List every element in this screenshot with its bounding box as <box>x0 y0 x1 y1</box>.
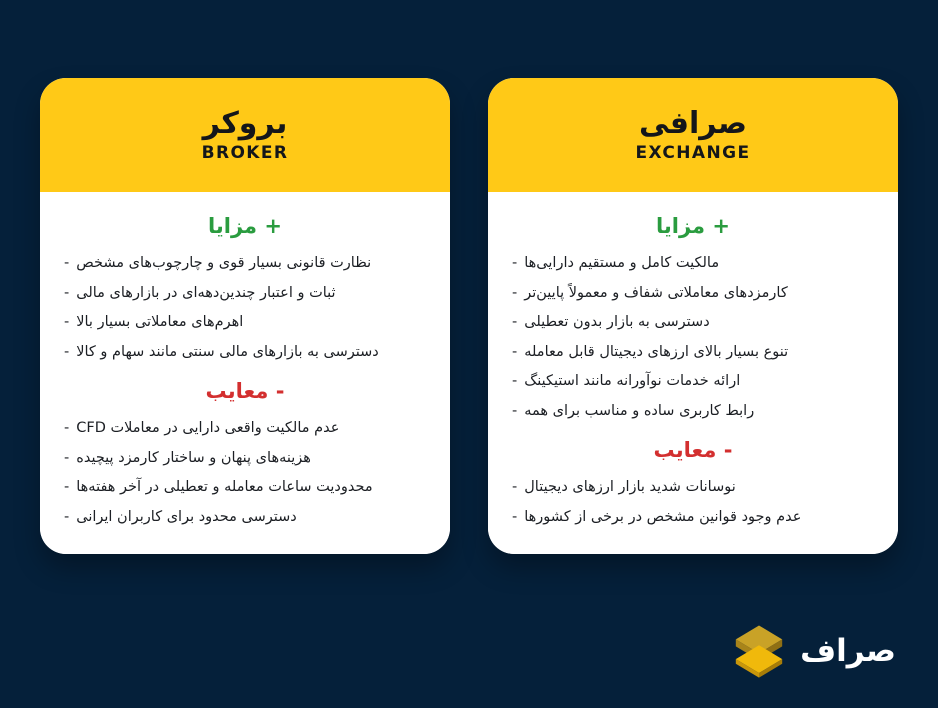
list-item: تنوع بسیار بالای ارزهای دیجیتال قابل معا… <box>512 341 874 363</box>
brand-name: صراف <box>800 636 896 667</box>
dash-bullet-icon: - <box>512 476 517 498</box>
list-item: نظارت قانونی بسیار قوی و چارچوب‌های مشخص… <box>64 252 426 274</box>
dash-bullet-icon: - <box>512 341 517 363</box>
list-item: عدم مالکیت واقعی دارایی در معاملات CFD - <box>64 417 426 439</box>
list-item-text: اهرم‌های معاملاتی بسیار بالا <box>76 311 243 333</box>
infographic-canvas: صرافی EXCHANGE + مزایا مالکیت کامل و مست… <box>0 0 938 708</box>
list-item-text: عدم وجود قوانین مشخص در برخی از کشورها <box>524 506 801 528</box>
list-item-text: دسترسی به بازارهای مالی سنتی مانند سهام … <box>76 341 379 363</box>
exchange-pros-section: + مزایا مالکیت کامل و مستقیم دارایی‌ها -… <box>512 214 874 422</box>
list-item: ثبات و اعتبار چندین‌دهه‌ای در بازارهای م… <box>64 282 426 304</box>
dash-bullet-icon: - <box>64 311 69 333</box>
dash-bullet-icon: - <box>64 282 69 304</box>
broker-cons-heading: - معایب <box>64 379 426 404</box>
exchange-cons-list: نوسانات شدید بازار ارزهای دیجیتال - عدم … <box>512 476 874 528</box>
list-item: عدم وجود قوانین مشخص در برخی از کشورها - <box>512 506 874 528</box>
isometric-cube-logo-icon <box>730 622 788 680</box>
list-item: نوسانات شدید بازار ارزهای دیجیتال - <box>512 476 874 498</box>
card-broker-header: بروکر BROKER <box>40 78 450 192</box>
list-item: ارائه خدمات نوآورانه مانند استیکینگ - <box>512 370 874 392</box>
card-exchange-title-en: EXCHANGE <box>636 144 751 163</box>
exchange-pros-heading: + مزایا <box>512 214 874 239</box>
exchange-cons-heading: - معایب <box>512 438 874 463</box>
exchange-pros-list: مالکیت کامل و مستقیم دارایی‌ها - کارمزده… <box>512 252 874 422</box>
dash-bullet-icon: - <box>512 311 517 333</box>
card-exchange-title-fa: صرافی <box>639 107 747 140</box>
comparison-cards: صرافی EXCHANGE + مزایا مالکیت کامل و مست… <box>40 78 898 554</box>
dash-bullet-icon: - <box>64 447 69 469</box>
dash-bullet-icon: - <box>64 252 69 274</box>
broker-cons-list: عدم مالکیت واقعی دارایی در معاملات CFD -… <box>64 417 426 528</box>
list-item: دسترسی به بازار بدون تعطیلی - <box>512 311 874 333</box>
card-broker-title-en: BROKER <box>202 144 289 163</box>
dash-bullet-icon: - <box>64 476 69 498</box>
broker-cons-section: - معایب عدم مالکیت واقعی دارایی در معامل… <box>64 379 426 528</box>
list-item-text: دسترسی محدود برای کاربران ایرانی <box>76 506 297 528</box>
list-item-text: ثبات و اعتبار چندین‌دهه‌ای در بازارهای م… <box>76 282 335 304</box>
list-item: دسترسی به بازارهای مالی سنتی مانند سهام … <box>64 341 426 363</box>
dash-bullet-icon: - <box>512 370 517 392</box>
list-item-text: عدم مالکیت واقعی دارایی در معاملات CFD <box>76 417 339 439</box>
dash-bullet-icon: - <box>64 506 69 528</box>
list-item: رابط کاربری ساده و مناسب برای همه - <box>512 400 874 422</box>
list-item-text: نوسانات شدید بازار ارزهای دیجیتال <box>524 476 736 498</box>
list-item: محدودیت ساعات معامله و تعطیلی در آخر هفت… <box>64 476 426 498</box>
list-item: دسترسی محدود برای کاربران ایرانی - <box>64 506 426 528</box>
dash-bullet-icon: - <box>512 400 517 422</box>
card-broker-title-fa: بروکر <box>203 107 288 140</box>
list-item-text: مالکیت کامل و مستقیم دارایی‌ها <box>524 252 719 274</box>
card-exchange: صرافی EXCHANGE + مزایا مالکیت کامل و مست… <box>488 78 898 554</box>
list-item-text: رابط کاربری ساده و مناسب برای همه <box>524 400 754 422</box>
list-item: اهرم‌های معاملاتی بسیار بالا - <box>64 311 426 333</box>
list-item: مالکیت کامل و مستقیم دارایی‌ها - <box>512 252 874 274</box>
exchange-cons-section: - معایب نوسانات شدید بازار ارزهای دیجیتا… <box>512 438 874 528</box>
card-broker-body: + مزایا نظارت قانونی بسیار قوی و چارچوب‌… <box>40 192 450 554</box>
dash-bullet-icon: - <box>512 282 517 304</box>
list-item-text: ارائه خدمات نوآورانه مانند استیکینگ <box>524 370 740 392</box>
list-item: هزینه‌های پنهان و ساختار کارمزد پیچیده - <box>64 447 426 469</box>
dash-bullet-icon: - <box>512 252 517 274</box>
card-broker: بروکر BROKER + مزایا نظارت قانونی بسیار … <box>40 78 450 554</box>
list-item-text: کارمزدهای معاملاتی شفاف و معمولاً پایین‌… <box>524 282 788 304</box>
broker-pros-section: + مزایا نظارت قانونی بسیار قوی و چارچوب‌… <box>64 214 426 363</box>
brand-logo: صراف <box>730 622 896 680</box>
broker-pros-heading: + مزایا <box>64 214 426 239</box>
card-exchange-header: صرافی EXCHANGE <box>488 78 898 192</box>
broker-pros-list: نظارت قانونی بسیار قوی و چارچوب‌های مشخص… <box>64 252 426 363</box>
list-item-text: نظارت قانونی بسیار قوی و چارچوب‌های مشخص <box>76 252 371 274</box>
list-item-text: دسترسی به بازار بدون تعطیلی <box>524 311 709 333</box>
list-item: کارمزدهای معاملاتی شفاف و معمولاً پایین‌… <box>512 282 874 304</box>
dash-bullet-icon: - <box>64 417 69 439</box>
list-item-text: هزینه‌های پنهان و ساختار کارمزد پیچیده <box>76 447 311 469</box>
dash-bullet-icon: - <box>64 341 69 363</box>
list-item-text: محدودیت ساعات معامله و تعطیلی در آخر هفت… <box>76 476 372 498</box>
dash-bullet-icon: - <box>512 506 517 528</box>
card-exchange-body: + مزایا مالکیت کامل و مستقیم دارایی‌ها -… <box>488 192 898 554</box>
list-item-text: تنوع بسیار بالای ارزهای دیجیتال قابل معا… <box>524 341 788 363</box>
